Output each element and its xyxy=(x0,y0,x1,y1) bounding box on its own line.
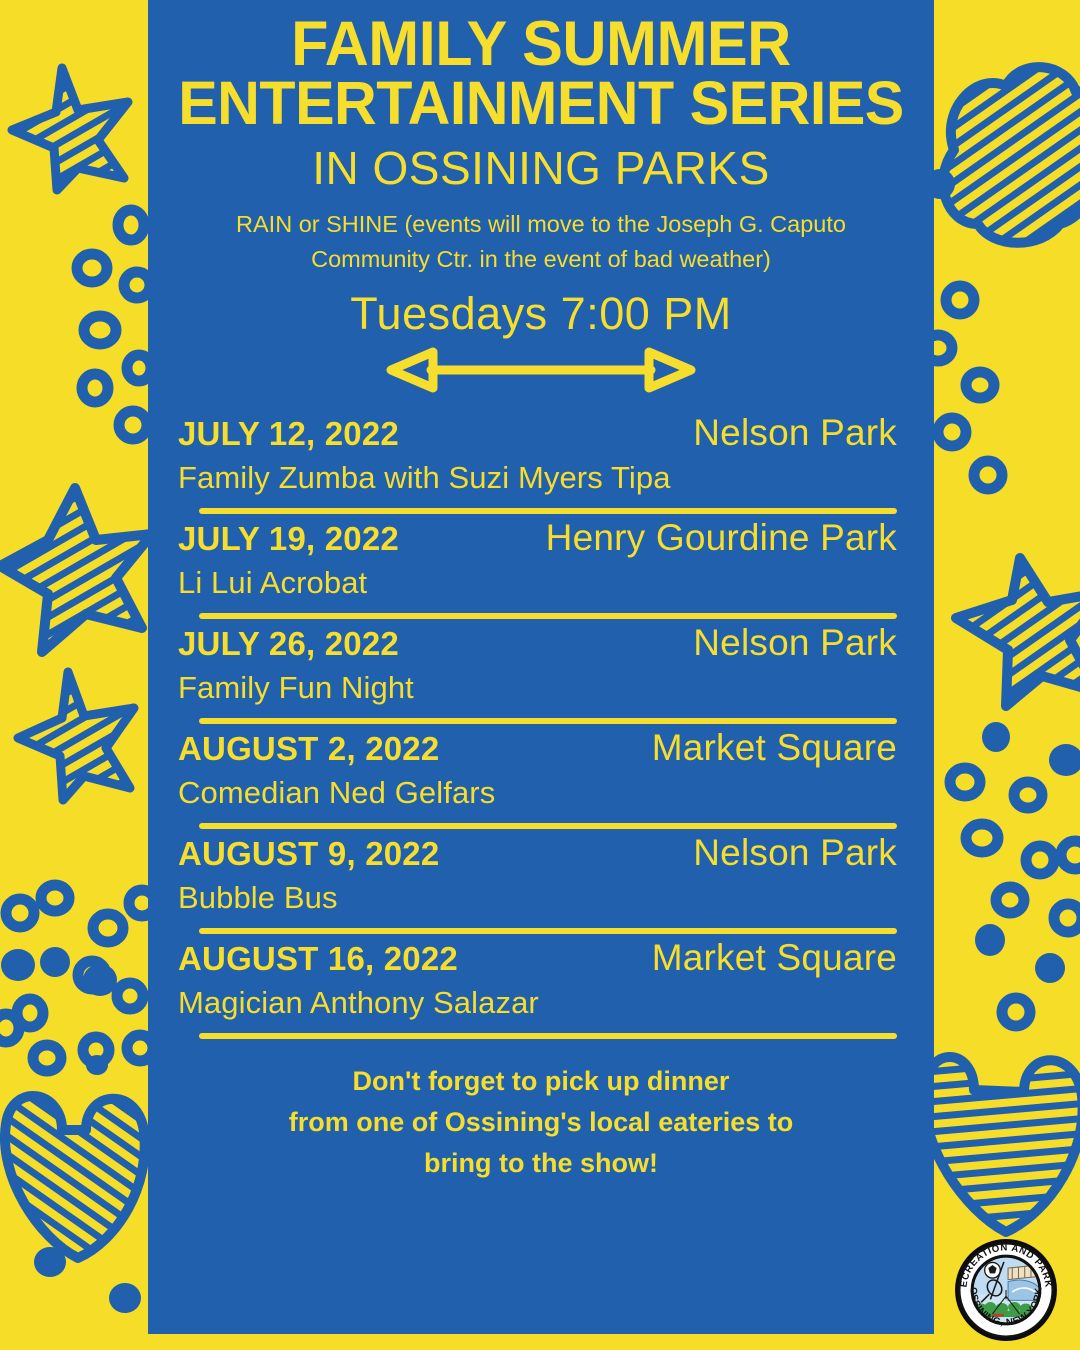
footer-line-2: from one of Ossining's local eateries to xyxy=(228,1102,854,1143)
event-date: AUGUST 9, 2022 xyxy=(178,835,439,873)
ossining-recreation-parks-logo: RECREATION AND PARKS OSSINING, NEW YORK xyxy=(954,1238,1058,1342)
event-venue: Nelson Park xyxy=(693,622,897,664)
event-row: JULY 26, 2022 Nelson Park Family Fun Nig… xyxy=(163,622,897,724)
event-act: Family Zumba with Suzi Myers Tipa xyxy=(163,454,897,496)
footer-line-3: bring to the show! xyxy=(228,1143,854,1184)
double-arrow-icon xyxy=(381,346,701,394)
event-header: AUGUST 2, 2022 Market Square xyxy=(163,727,897,769)
event-time: Tuesdays 7:00 PM xyxy=(166,288,916,340)
doodle-blobs-solid xyxy=(925,169,1080,983)
event-divider xyxy=(199,1033,897,1039)
main-panel: FAMILY SUMMER ENTERTAINMENT SERIES IN OS… xyxy=(148,0,934,1334)
doodle-blobs xyxy=(924,286,1080,1026)
event-header: JULY 12, 2022 Nelson Park xyxy=(163,412,897,454)
doodle-cloud xyxy=(943,67,1080,243)
event-date: JULY 12, 2022 xyxy=(178,415,399,453)
event-divider xyxy=(199,613,897,619)
event-act: Bubble Bus xyxy=(163,874,897,916)
event-venue: Market Square xyxy=(652,727,897,769)
doodle-star xyxy=(12,68,128,190)
doodle-star xyxy=(18,672,134,800)
event-date: AUGUST 2, 2022 xyxy=(178,730,439,768)
page-title: FAMILY SUMMER ENTERTAINMENT SERIES xyxy=(177,14,905,133)
event-divider xyxy=(199,508,897,514)
event-header: AUGUST 16, 2022 Market Square xyxy=(163,937,897,979)
footer-line-1: Don't forget to pick up dinner xyxy=(228,1061,854,1102)
event-row: JULY 12, 2022 Nelson Park Family Zumba w… xyxy=(163,412,897,514)
rain-or-shine-note: RAIN or SHINE (events will move to the J… xyxy=(200,207,882,278)
event-header: JULY 26, 2022 Nelson Park xyxy=(163,622,897,664)
event-venue: Market Square xyxy=(652,937,897,979)
doodle-heart xyxy=(924,1057,1080,1232)
right-doodle-border xyxy=(920,0,1080,1350)
event-row: JULY 19, 2022 Henry Gourdine Park Li Lui… xyxy=(163,517,897,619)
event-act: Magician Anthony Salazar xyxy=(163,979,897,1021)
doodle-star xyxy=(956,558,1080,706)
left-doodle-border xyxy=(0,0,160,1350)
footer-note: Don't forget to pick up dinner from one … xyxy=(228,1061,854,1184)
event-divider xyxy=(199,928,897,934)
event-header: JULY 19, 2022 Henry Gourdine Park xyxy=(163,517,897,559)
doodle-star xyxy=(0,488,152,652)
title-line-2: ENTERTAINMENT SERIES xyxy=(177,74,905,133)
event-divider xyxy=(199,823,897,829)
event-venue: Henry Gourdine Park xyxy=(546,517,897,559)
doodle-blobs xyxy=(0,210,155,1071)
event-row: AUGUST 9, 2022 Nelson Park Bubble Bus xyxy=(163,832,897,934)
events-list: JULY 12, 2022 Nelson Park Family Zumba w… xyxy=(163,412,897,1039)
event-row: AUGUST 2, 2022 Market Square Comedian Ne… xyxy=(163,727,897,829)
poster-header: FAMILY SUMMER ENTERTAINMENT SERIES IN OS… xyxy=(148,0,934,394)
rain-note-line-2: Community Ctr. in the event of bad weath… xyxy=(311,246,771,272)
doodle-blobs-solid xyxy=(1,947,141,1313)
subtitle: IN OSSINING PARKS xyxy=(166,141,916,195)
event-act: Family Fun Night xyxy=(163,664,897,706)
event-date: JULY 26, 2022 xyxy=(178,625,399,663)
doodle-heart xyxy=(5,1096,145,1258)
event-date: JULY 19, 2022 xyxy=(178,520,399,558)
event-act: Li Lui Acrobat xyxy=(163,559,897,601)
event-divider xyxy=(199,718,897,724)
event-venue: Nelson Park xyxy=(693,412,897,454)
event-row: AUGUST 16, 2022 Market Square Magician A… xyxy=(163,937,897,1039)
event-venue: Nelson Park xyxy=(693,832,897,874)
rain-note-line-1: RAIN or SHINE (events will move to the J… xyxy=(236,211,846,237)
event-header: AUGUST 9, 2022 Nelson Park xyxy=(163,832,897,874)
poster-canvas: FAMILY SUMMER ENTERTAINMENT SERIES IN OS… xyxy=(0,0,1080,1350)
event-act: Comedian Ned Gelfars xyxy=(163,769,897,811)
event-date: AUGUST 16, 2022 xyxy=(178,940,458,978)
